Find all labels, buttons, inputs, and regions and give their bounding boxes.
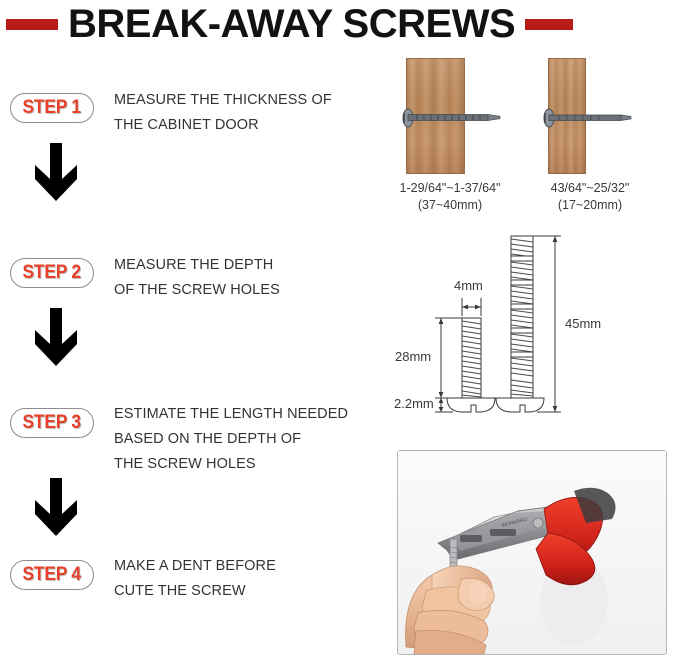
right-red-dash: [525, 19, 573, 30]
step-line: THE CABINET DOOR: [114, 113, 376, 138]
page-header: BREAK-AWAY SCREWS: [0, 0, 679, 48]
thick-door-mm: (37~40mm): [380, 197, 520, 214]
step-badge-label-3: STEP 3: [23, 412, 81, 434]
step-badge-1: STEP 1: [10, 93, 94, 123]
step-badge-2: STEP 2: [10, 258, 94, 288]
screw-head-height-label: 2.2mm: [394, 396, 434, 411]
thin-door-mm: (17~20mm): [525, 197, 655, 214]
step-description-4: MAKE A DENT BEFORE CUTE THE SCREW: [114, 554, 376, 604]
step-description-1: MEASURE THE THICKNESS OF THE CABINET DOO…: [114, 88, 376, 138]
thin-door-inches: 43/64"~25/32": [525, 180, 655, 197]
step-line: MEASURE THE DEPTH: [114, 253, 376, 278]
step-line: MAKE A DENT BEFORE: [114, 554, 376, 579]
thick-door-inches: 1-29/64"~1-37/64": [380, 180, 520, 197]
step-badge-4: STEP 4: [10, 560, 94, 590]
step-badge-label-4: STEP 4: [23, 564, 81, 586]
length-dimension-45mm: [533, 236, 561, 412]
step-line: OF THE SCREW HOLES: [114, 278, 376, 303]
thick-door-dimension: 1-29/64"~1-37/64" (37~40mm): [380, 180, 520, 214]
thin-door-dimension: 43/64"~25/32" (17~20mm): [525, 180, 655, 214]
cabinet-door-illustration: 1-29/64"~1-37/64" (37~40mm) 43/64"~25/32…: [380, 55, 679, 215]
step-line: BASED ON THE DEPTH OF: [114, 427, 376, 452]
screw-width-label: 4mm: [454, 278, 483, 293]
pliers-cutting-screw-photo: WORKPRO: [397, 450, 667, 655]
step-line: CUTE THE SCREW: [114, 579, 376, 604]
screw-in-thin-door-icon: [525, 107, 655, 129]
screw-in-thick-door-icon: [380, 107, 520, 129]
step-line: THE SCREW HOLES: [114, 452, 376, 477]
step-description-3: ESTIMATE THE LENGTH NEEDED BASED ON THE …: [114, 402, 376, 477]
step-badge-label-1: STEP 1: [23, 97, 81, 119]
step-description-2: MEASURE THE DEPTH OF THE SCREW HOLES: [114, 253, 376, 303]
down-arrow-3: [33, 478, 79, 540]
down-arrow-1: [33, 143, 79, 205]
step-line: ESTIMATE THE LENGTH NEEDED: [114, 402, 376, 427]
left-red-dash: [6, 19, 58, 30]
page-title: BREAK-AWAY SCREWS: [68, 4, 515, 44]
screw-length-label-long: 45mm: [565, 316, 601, 331]
step-badge-label-2: STEP 2: [23, 262, 81, 284]
step-badge-3: STEP 3: [10, 408, 94, 438]
screw-dimension-diagram: 4mm 28mm 2.2mm 45mm: [395, 228, 605, 433]
width-dimension-4mm: [462, 298, 481, 316]
screw-length-label-short: 28mm: [395, 349, 431, 364]
step-line: MEASURE THE THICKNESS OF: [114, 88, 376, 113]
down-arrow-2: [33, 308, 79, 370]
